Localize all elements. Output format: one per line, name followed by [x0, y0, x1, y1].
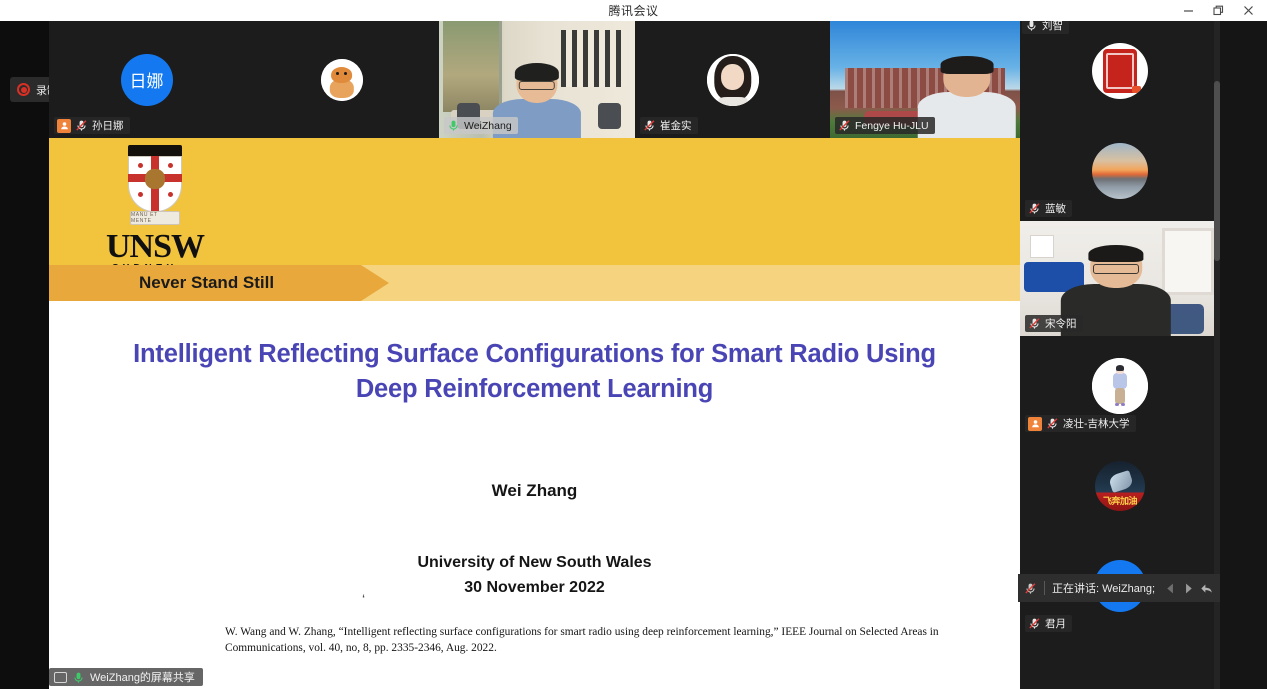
slide-citation: W. Wang and W. Zhang, “Intelligent refle… [225, 624, 950, 656]
tiger-avatar-icon [321, 59, 363, 101]
sidebar-participant-tile[interactable]: 飞奔加油 [1020, 436, 1220, 536]
slide-content: Intelligent Reflecting Surface Configura… [49, 301, 1020, 689]
divider [1044, 581, 1045, 595]
participant-name: WeiZhang [464, 120, 512, 132]
avatar: 飞奔加油 [1095, 461, 1145, 511]
tagline-banner: Never Stand Still [49, 265, 1020, 301]
participant-tile[interactable]: 日娜 孙日娜 [49, 21, 244, 138]
participant-tile[interactable]: 崔金实 [635, 21, 830, 138]
slide-author: Wei Zhang [49, 481, 1020, 501]
sidebar-participant-tile[interactable]: 凌壮-吉林大学 [1020, 336, 1220, 436]
left-rail [0, 21, 49, 689]
title-bar: 腾讯会议 [0, 0, 1267, 21]
participant-name-badge: 孙日娜 [54, 117, 130, 134]
sidebar-participant-tile[interactable]: 宋令阳 [1020, 221, 1220, 336]
mic-muted-icon [75, 119, 88, 132]
participant-name: 崔金实 [660, 118, 692, 133]
sidebar-participant-tile[interactable]: 刘智 [1020, 21, 1220, 121]
slide-header-band: MANU ET MENTE UNSW SYDNEY [49, 138, 1020, 265]
participant-name: 凌壮-吉林大学 [1063, 416, 1130, 431]
chevron-left-icon[interactable] [1164, 582, 1177, 595]
participant-name: 刘智 [1042, 21, 1063, 33]
participant-name-badge: Fengye Hu-JLU [835, 117, 935, 134]
participant-tile[interactable]: 18946638560 [244, 21, 439, 138]
screen-share-badge: WeiZhang的屏幕共享 [49, 668, 203, 686]
share-label: WeiZhang的屏幕共享 [90, 669, 195, 685]
mic-muted-icon [1028, 617, 1041, 630]
mic-muted-icon [1028, 317, 1041, 330]
affiliation-line: University of New South Wales [49, 551, 1020, 576]
date-line: 30 November 2022 [49, 576, 1020, 601]
participant-name: 宋令阳 [1045, 316, 1077, 331]
mic-muted-icon [838, 119, 851, 132]
chevron-right-icon[interactable] [1182, 582, 1195, 595]
avatar-caption: 飞奔加油 [1095, 494, 1145, 507]
participant-name-badge: 宋令阳 [1025, 315, 1083, 332]
meeting-body: 录制中 日娜 孙日娜 [0, 21, 1267, 689]
mic-muted-icon [1028, 202, 1041, 215]
rocket-avatar-icon: 飞奔加油 [1095, 461, 1145, 511]
participant-name-badge: 崔金实 [640, 117, 698, 134]
speaking-label: 正在讲话: WeiZhang; [1052, 580, 1155, 596]
speaker-nav [1164, 582, 1214, 595]
avatar [1092, 143, 1148, 199]
tagline-text: Never Stand Still [139, 265, 274, 301]
seal-avatar-icon [1092, 43, 1148, 99]
participant-name-badge: 蓝敏 [1025, 200, 1072, 217]
avatar-initials: 日娜 [130, 67, 164, 92]
crest-motto: MANU ET MENTE [130, 211, 180, 225]
participant-name: 孙日娜 [92, 118, 124, 133]
close-icon[interactable] [1233, 0, 1263, 21]
cartoon-avatar-icon [1092, 358, 1148, 414]
return-arrow-icon[interactable] [1200, 582, 1214, 595]
participant-name-badge: 凌壮-吉林大学 [1025, 415, 1136, 432]
unsw-wordmark: UNSW [106, 228, 204, 266]
restore-icon[interactable] [1203, 0, 1233, 21]
avatar [707, 54, 759, 106]
host-icon [1028, 417, 1042, 431]
sunset-avatar-icon [1092, 143, 1148, 199]
participant-name: 君月 [1045, 616, 1066, 631]
minimize-icon[interactable] [1173, 0, 1203, 21]
window-title: 腾讯会议 [608, 2, 658, 19]
slide-title: Intelligent Reflecting Surface Configura… [49, 337, 1020, 407]
slide-affiliation: University of New South Wales 30 Novembe… [49, 551, 1020, 601]
avatar [321, 59, 363, 101]
mic-active-icon [447, 119, 460, 132]
participant-name: 蓝敏 [1045, 201, 1066, 216]
mic-active-icon [72, 671, 85, 684]
monitor-icon [54, 672, 67, 683]
participant-tile[interactable]: WeiZhang [439, 21, 635, 138]
unsw-crest-icon: MANU ET MENTE [128, 145, 182, 229]
tencent-meeting-window: 腾讯会议 录制中 [0, 0, 1267, 689]
stray-mark: ‘ [362, 591, 365, 607]
sidebar-participant-tile[interactable]: 蓝敏 [1020, 121, 1220, 221]
host-icon [57, 119, 71, 133]
active-speaker-bar: 正在讲话: WeiZhang; [1018, 574, 1220, 602]
avatar [1092, 358, 1148, 414]
right-rail [1220, 21, 1267, 689]
participant-filmstrip: 日娜 孙日娜 [49, 21, 1020, 138]
participant-name-badge: WeiZhang [444, 117, 518, 134]
participant-name-badge: 君月 [1025, 615, 1072, 632]
mic-active-icon [1025, 21, 1038, 32]
mic-muted-icon [1024, 582, 1037, 595]
record-icon [17, 83, 30, 96]
mic-muted-icon [643, 119, 656, 132]
participant-tile[interactable]: Fengye Hu-JLU [830, 21, 1020, 138]
shared-screen-slide[interactable]: MANU ET MENTE UNSW SYDNEY Never Stand St… [49, 138, 1020, 689]
avatar [1092, 43, 1148, 99]
window-controls [1173, 0, 1263, 21]
participant-name-badge: 刘智 [1022, 21, 1069, 34]
mic-muted-icon [1046, 417, 1059, 430]
photo-avatar [707, 54, 759, 106]
avatar: 日娜 [121, 54, 173, 106]
participant-name: Fengye Hu-JLU [855, 120, 929, 132]
